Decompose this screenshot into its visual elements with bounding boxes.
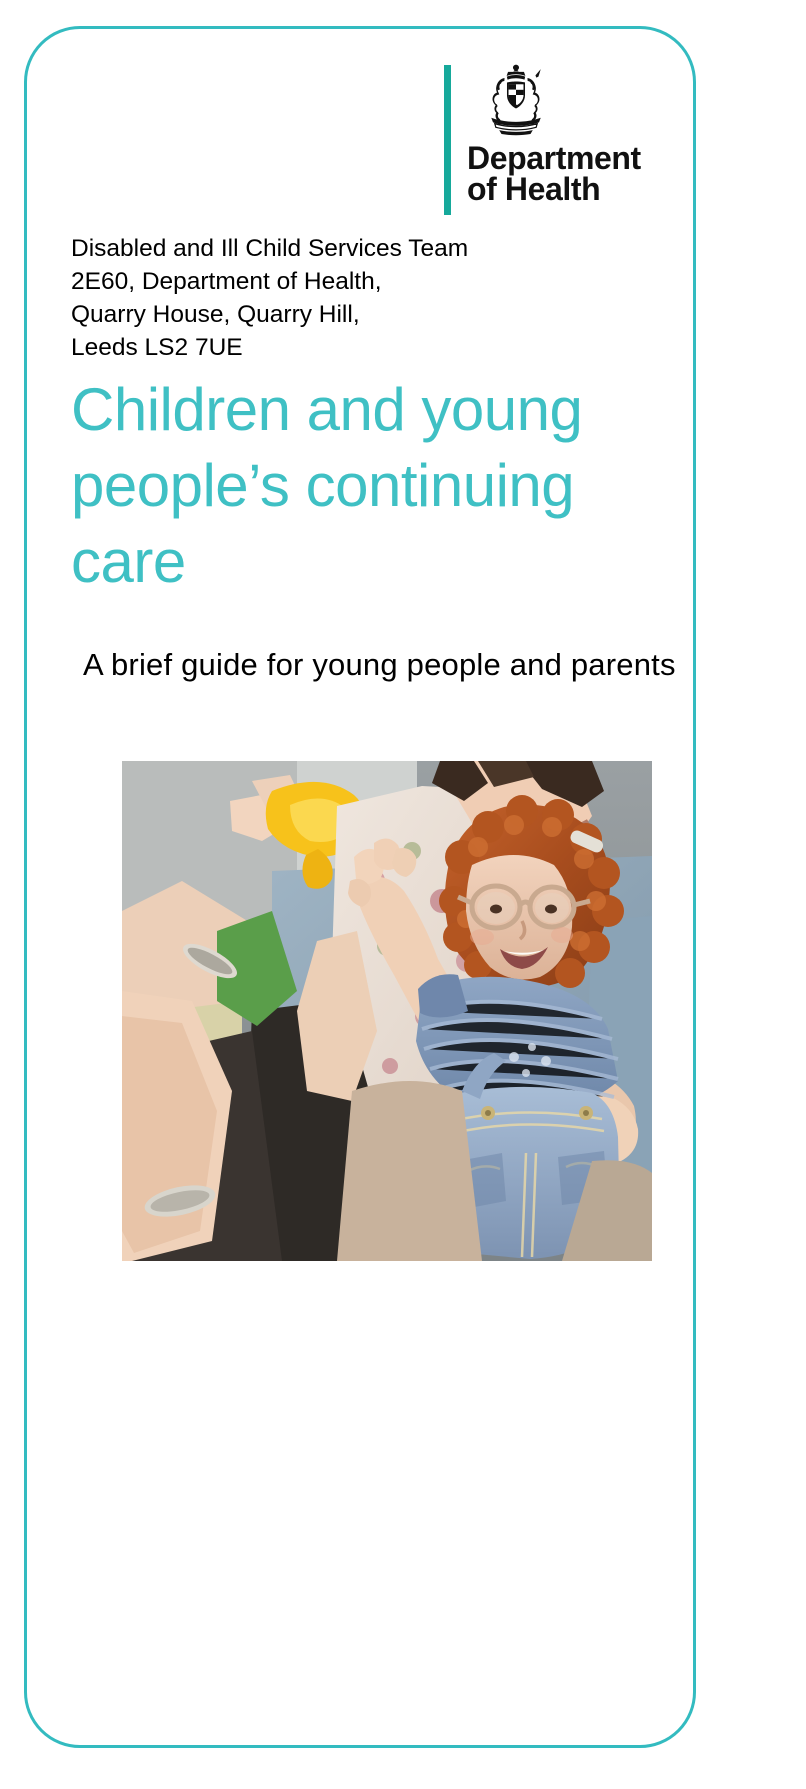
leaflet-border-frame: Department of Health Disabled and Ill Ch… [24, 26, 696, 1748]
address-line-4: Leeds LS2 7UE [71, 331, 468, 364]
page-subtitle: A brief guide for young people and paren… [83, 643, 693, 687]
royal-coat-of-arms-icon [471, 63, 561, 139]
sender-address: Disabled and Ill Child Services Team 2E6… [71, 232, 468, 364]
department-of-health-logo: Department of Health [444, 63, 694, 226]
address-line-1: Disabled and Ill Child Services Team [71, 232, 468, 265]
logo-wordmark-line1: Department [467, 143, 641, 174]
address-line-2: 2E60, Department of Health, [71, 265, 468, 298]
logo-wordmark: Department of Health [467, 143, 641, 206]
logo-vertical-rule [444, 65, 451, 215]
logo-body: Department of Health [467, 63, 641, 226]
address-line-3: Quarry House, Quarry Hill, [71, 298, 468, 331]
logo-wordmark-line2: of Health [467, 174, 641, 205]
cover-photograph [122, 761, 652, 1261]
page-title: Children and young people’s continuing c… [71, 372, 691, 600]
